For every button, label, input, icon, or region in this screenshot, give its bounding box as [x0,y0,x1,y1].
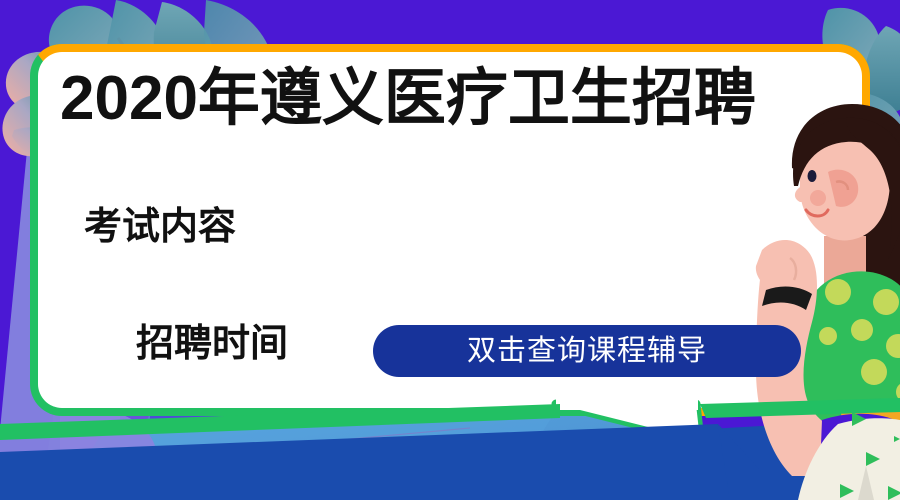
query-course-button[interactable]: 双击查询课程辅导 [373,325,801,377]
promo-poster: 2020年遵义医疗卫生招聘 考试内容 招聘时间 双击查询课程辅导 [0,0,900,500]
query-course-button-label: 双击查询课程辅导 [467,337,707,366]
page-title: 2020年遵义医疗卫生招聘 [60,68,756,130]
card-item-exam-content: 考试内容 [84,208,236,246]
card-item-recruit-time: 招聘时间 [136,325,288,363]
